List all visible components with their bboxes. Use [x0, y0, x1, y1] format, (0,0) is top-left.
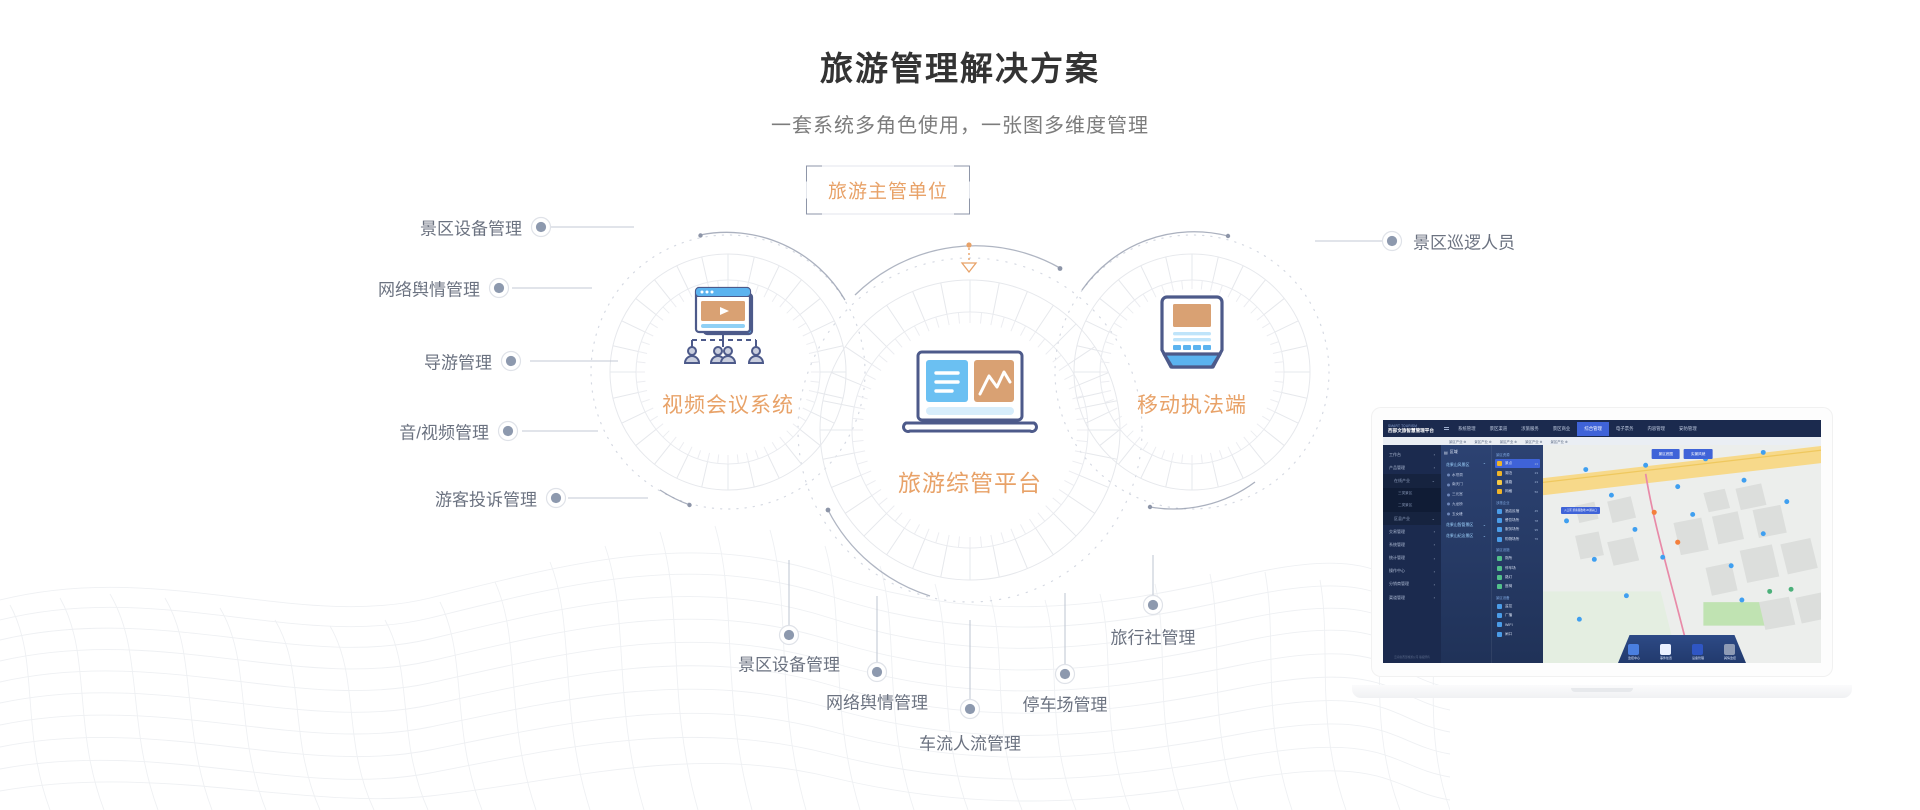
dashboard-sidebar-item-11[interactable]: 渠道管理›: [1383, 591, 1441, 604]
dashboard-sidebar-item-10[interactable]: 分销商管理›: [1383, 578, 1441, 591]
laptop-screen: SMART TOURISM 西部文旅智慧管理平台 系统管理景区渠道涉旅服务景区商…: [1383, 420, 1821, 663]
layer-item-label: 广播: [1505, 613, 1535, 618]
dashboard-sidebar-item-8[interactable]: 统计管理›: [1383, 552, 1441, 565]
region-item-0-2[interactable]: 三元宫: [1444, 490, 1488, 500]
dashboard-nav-item-3[interactable]: 景区商业: [1546, 422, 1578, 436]
layer-item-count: 95: [1535, 528, 1538, 532]
layer-color-swatch: [1497, 537, 1502, 542]
map-pill-1[interactable]: 实景风貌: [1684, 449, 1712, 459]
layer-color-swatch: [1497, 556, 1502, 561]
layer-item-count: 23: [1535, 480, 1538, 484]
handheld-device-icon: [1162, 297, 1222, 367]
badge-corner-tr: [954, 166, 970, 182]
bottom-label-2[interactable]: 车流人流管理: [919, 730, 1021, 755]
dashboard-nav-item-2[interactable]: 涉旅服务: [1514, 422, 1546, 436]
dashboard-sidebar-item-3[interactable]: 三类景区: [1383, 488, 1441, 500]
dock-label-2: 设备管理: [1692, 656, 1704, 660]
layer-item-3-2[interactable]: WIFI: [1495, 620, 1540, 629]
region-group-1[interactable]: 花果山智管景区⌄: [1444, 519, 1488, 530]
layer-item-1-3[interactable]: 购物场所76: [1495, 535, 1540, 544]
bottom-label-3[interactable]: 停车场管理: [1023, 691, 1108, 716]
badge-corner-tl: [806, 166, 822, 182]
layer-color-swatch: [1497, 518, 1502, 523]
layer-item-count: 76: [1535, 537, 1538, 541]
region-item-0-4[interactable]: 玉女峰: [1444, 509, 1488, 519]
badge-border-top: [822, 166, 954, 167]
layer-color-swatch: [1497, 584, 1502, 589]
layer-color-swatch: [1497, 489, 1502, 494]
region-item-0-3[interactable]: 九龙桥: [1444, 500, 1488, 510]
dock-icon-3: [1724, 644, 1735, 655]
layer-item-label: 服务场所: [1505, 527, 1532, 532]
dock-item-1[interactable]: 事件处置: [1660, 644, 1672, 661]
layer-item-label: 厕所: [1505, 556, 1535, 561]
laptop-notch: [1571, 688, 1633, 692]
layer-item-1-2[interactable]: 服务场所95: [1495, 525, 1540, 534]
bottom-label-0[interactable]: 景区设备管理: [738, 651, 840, 676]
layer-item-0-0[interactable]: 景点23: [1495, 459, 1540, 468]
layer-item-1-0[interactable]: 酒店民宿45: [1495, 507, 1540, 516]
dashboard-tab-0[interactable]: 景区产业 ⊗: [1445, 439, 1470, 444]
dashboard-tabbar: 景区产业 ⊗景区产业 ⊗景区产业 ⊗景区产业 ⊗景区产业 ⊗: [1383, 437, 1821, 445]
region-item-0-0[interactable]: 水帘洞: [1444, 470, 1488, 480]
left-label-4[interactable]: 游客投诉管理: [435, 486, 537, 511]
layer-item-label: 网格: [1505, 489, 1532, 494]
layer-item-label: 景点: [1505, 461, 1532, 466]
dashboard-body: 工作台›产品管理›在线产业⌄三类景区二类景区区县产业⌄交易管理›系统管理›统计管…: [1383, 445, 1821, 663]
layer-item-label: 监控: [1505, 604, 1535, 609]
layer-item-label: 道路: [1505, 480, 1532, 485]
layer-color-swatch: [1497, 566, 1502, 571]
layer-item-3-0[interactable]: 监控: [1495, 602, 1540, 611]
dashboard-sidebar-item-1[interactable]: 产品管理›: [1383, 461, 1441, 474]
bottom-label-1[interactable]: 网络舆情管理: [826, 689, 928, 714]
dashboard-sidebar-item-4[interactable]: 二类景区: [1383, 500, 1441, 512]
dashboard-sidebar-footer: 云南省西部旅游公司 版权所有: [1383, 651, 1441, 663]
badge-border-left: [806, 182, 807, 199]
dock-label-1: 事件处置: [1660, 656, 1672, 660]
dashboard-nav-item-7[interactable]: 安防管理: [1672, 422, 1704, 436]
region-group-2[interactable]: 花果山纪念景区⌄: [1444, 530, 1488, 541]
layer-item-label: 湖泊: [1505, 471, 1532, 476]
layer-color-swatch: [1497, 509, 1502, 514]
layer-item-label: 闸口: [1505, 632, 1535, 637]
dashboard-nav-item-1[interactable]: 景区渠道: [1483, 422, 1515, 436]
layer-color-swatch: [1497, 575, 1502, 580]
badge-label: 旅游主管单位: [828, 182, 948, 203]
laptop-mockup: SMART TOURISM 西部文旅智慧管理平台 系统管理景区渠道涉旅服务景区商…: [1352, 408, 1852, 708]
dashboard-nav-item-4[interactable]: 综合管理: [1577, 422, 1609, 436]
dock-icon-1: [1660, 644, 1671, 655]
dashboard-tab-2[interactable]: 景区产业 ⊗: [1496, 439, 1521, 444]
badge-border-bottom: [822, 214, 954, 215]
region-tree-title: 区域: [1450, 449, 1458, 455]
layer-item-label: 购物场所: [1505, 537, 1532, 542]
map-layer-pills: 景区底图 实景风貌: [1652, 449, 1713, 459]
layer-item-2-2[interactable]: 路灯: [1495, 573, 1540, 582]
dashboard-sidebar-item-5[interactable]: 区县产业⌄: [1383, 512, 1441, 525]
left-label-2[interactable]: 导游管理: [424, 349, 492, 374]
left-connectors: [512, 227, 648, 498]
dashboard-sidebar-item-2[interactable]: 在线产业⌄: [1383, 474, 1441, 487]
map-pill-0[interactable]: 景区底图: [1652, 449, 1680, 459]
layer-color-swatch: [1497, 527, 1502, 532]
dock-label-0: 监控中心: [1628, 656, 1640, 660]
layer-color-swatch: [1497, 632, 1502, 637]
layer-item-count: 78: [1535, 519, 1538, 523]
dock-item-3[interactable]: 舆情监控: [1724, 644, 1736, 661]
node-label-tourism-platform: 旅游综管平台: [898, 464, 1042, 498]
dashboard-preview: SMART TOURISM 西部文旅智慧管理平台 系统管理景区渠道涉旅服务景区商…: [1383, 420, 1821, 663]
dashboard-main: ▤ 区域 花果山风景区⌃水帘洞南天门三元宫九龙桥玉女峰花果山智管景区⌄花果山纪念…: [1441, 445, 1821, 663]
region-tree-header: ▤ 区域: [1444, 449, 1488, 455]
left-label-3[interactable]: 音/视频管理: [399, 419, 489, 444]
dashboard-nav-item-6[interactable]: 内容管理: [1640, 422, 1672, 436]
layer-item-count: 23: [1535, 471, 1538, 475]
map-canvas[interactable]: 景区底图 实景风貌 入口区 游客集散地 2F通关口 监控中心事件处置设备管理舆情…: [1543, 445, 1821, 663]
layer-item-label: 餐饮场所: [1505, 518, 1532, 523]
dashboard-topbar: SMART TOURISM 西部文旅智慧管理平台 系统管理景区渠道涉旅服务景区商…: [1383, 420, 1821, 437]
dock-item-2[interactable]: 设备管理: [1692, 644, 1704, 661]
region-tree-list: 花果山风景区⌃水帘洞南天门三元宫九龙桥玉女峰花果山智管景区⌄花果山纪念景区⌄: [1444, 459, 1488, 541]
left-label-0[interactable]: 景区设备管理: [420, 215, 522, 240]
layer-section-title-1: 涉旅企业: [1496, 500, 1540, 505]
left-label-1[interactable]: 网络舆情管理: [378, 276, 480, 301]
dock-item-0[interactable]: 监控中心: [1628, 644, 1640, 661]
layer-item-count: 23: [1535, 462, 1538, 466]
layer-item-label: 酒店民宿: [1505, 509, 1532, 514]
layer-color-swatch: [1497, 461, 1502, 466]
layer-color-swatch: [1497, 471, 1502, 476]
dashboard-layer-panel: ▤ 区域 花果山风景区⌃水帘洞南天门三元宫九龙桥玉女峰花果山智管景区⌄花果山纪念…: [1441, 445, 1543, 663]
right-label-0[interactable]: 景区巡逻人员: [1413, 229, 1515, 254]
node-label-video-conference: 视频会议系统: [662, 389, 794, 419]
badge-corner-bl: [806, 199, 822, 215]
badge-arrow: [962, 242, 976, 272]
layer-item-3-3[interactable]: 闸口: [1495, 630, 1540, 639]
dock-icon-0: [1628, 644, 1639, 655]
badge-corner-br: [954, 199, 970, 215]
layer-item-2-1[interactable]: 停车场: [1495, 563, 1540, 572]
layer-item-0-1[interactable]: 湖泊23: [1495, 468, 1540, 477]
laptop-screen-bezel: SMART TOURISM 西部文旅智慧管理平台 系统管理景区渠道涉旅服务景区商…: [1372, 408, 1832, 676]
layer-item-label: 路灯: [1505, 575, 1535, 580]
hamburger-icon[interactable]: [1441, 427, 1451, 431]
layer-item-2-3[interactable]: 座椅: [1495, 582, 1540, 591]
laptop-dashboard-icon: [904, 352, 1037, 431]
dashboard-tab-1[interactable]: 景区产业 ⊗: [1470, 439, 1495, 444]
layer-section-title-3: 景区设备: [1496, 595, 1540, 600]
layer-item-0-2[interactable]: 道路23: [1495, 478, 1540, 487]
layer-color-swatch: [1497, 480, 1502, 485]
layer-item-label: WIFI: [1505, 623, 1535, 627]
layer-item-3-1[interactable]: 广播: [1495, 611, 1540, 620]
layer-item-2-0[interactable]: 厕所: [1495, 554, 1540, 563]
dashboard-tab-4[interactable]: 景区产业 ⊗: [1546, 439, 1571, 444]
dashboard-tab-3[interactable]: 景区产业 ⊗: [1521, 439, 1546, 444]
dock-icon-2: [1692, 644, 1703, 655]
grid-icon: ▤: [1444, 450, 1448, 455]
layer-item-0-3[interactable]: 网格56: [1495, 487, 1540, 496]
layer-item-count: 45: [1535, 509, 1538, 513]
layer-section-title-0: 景区资源: [1496, 452, 1540, 457]
dashboard-sidebar-item-0[interactable]: 工作台›: [1383, 448, 1441, 461]
layer-item-1-1[interactable]: 餐饮场所78: [1495, 516, 1540, 525]
dashboard-sidebar-item-9[interactable]: 操作中心›: [1383, 565, 1441, 578]
region-item-0-1[interactable]: 南天门: [1444, 480, 1488, 490]
layer-color-swatch: [1497, 622, 1502, 627]
dashboard-logo-cn: 西部文旅智慧管理平台: [1388, 428, 1441, 434]
dashboard-nav-item-0[interactable]: 系统管理: [1451, 422, 1483, 436]
layer-color-swatch: [1497, 613, 1502, 618]
dashboard-nav-item-5[interactable]: 电子票务: [1609, 422, 1641, 436]
map-action-dock: 监控中心事件处置设备管理舆情监控: [1618, 635, 1746, 663]
region-tree-panel: ▤ 区域 花果山风景区⌃水帘洞南天门三元宫九龙桥玉女峰花果山智管景区⌄花果山纪念…: [1441, 445, 1491, 663]
layer-category-list: 景区资源景点23湖泊23道路23网格56涉旅企业酒店民宿45餐饮场所78服务场所…: [1491, 445, 1543, 663]
layer-color-swatch: [1497, 604, 1502, 609]
authority-badge[interactable]: 旅游主管单位: [806, 166, 970, 215]
layer-item-label: 停车场: [1505, 566, 1535, 571]
page-root: 旅游管理解决方案 一套系统多角色使用，一张图多维度管理: [0, 0, 1920, 810]
region-group-0[interactable]: 花果山风景区⌃: [1444, 459, 1488, 470]
layer-item-count: 56: [1535, 490, 1538, 494]
dashboard-sidebar-item-6[interactable]: 交易管理›: [1383, 525, 1441, 538]
bottom-connectors: [789, 555, 1153, 700]
dashboard-sidebar-item-7[interactable]: 系统管理›: [1383, 538, 1441, 551]
node-label-mobile-enforcement: 移动执法端: [1137, 389, 1247, 419]
dashboard-sidebar: 工作台›产品管理›在线产业⌄三类景区二类景区区县产业⌄交易管理›系统管理›统计管…: [1383, 445, 1441, 663]
badge-border-right: [969, 182, 970, 199]
layer-item-label: 座椅: [1505, 584, 1535, 589]
dock-label-3: 舆情监控: [1724, 656, 1736, 660]
bottom-label-4[interactable]: 旅行社管理: [1111, 624, 1196, 649]
video-window-icon: [685, 288, 763, 363]
dashboard-nav: 系统管理景区渠道涉旅服务景区商业综合管理电子票务内容管理安防管理: [1451, 422, 1821, 436]
dashboard-logo: SMART TOURISM 西部文旅智慧管理平台: [1383, 424, 1441, 434]
map-info-tag: 入口区 游客集散地 2F通关口: [1561, 507, 1600, 514]
layer-section-title-2: 景区设施: [1496, 547, 1540, 552]
